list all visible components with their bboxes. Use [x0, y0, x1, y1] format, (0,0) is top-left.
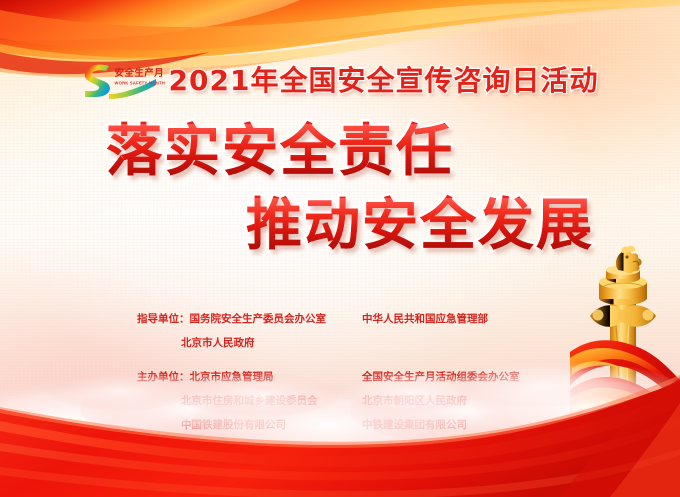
hosts-group: 主办单位：北京市应急管理局 北京市住房和城乡建设委员会 中国铁建股份有限公司 全…: [137, 371, 567, 443]
header-row: 安全生产月 WORK SAFETY MONTH 2021年全国安全宣传咨询日活动: [0, 57, 680, 105]
hosts-left-2: 中国铁建股份有限公司: [137, 419, 362, 432]
guidance-left-col: 指导单位：国务院安全生产委员会办公室 北京市人民政府: [137, 313, 362, 361]
logo-name-en: WORK SAFETY MONTH: [115, 81, 166, 86]
logo-name-cn: 安全生产月: [115, 69, 165, 79]
hosts-row: 主办单位：北京市应急管理局 北京市住房和城乡建设委员会 中国铁建股份有限公司 全…: [137, 371, 567, 443]
guidance-right-col: 中华人民共和国应急管理部: [362, 313, 567, 361]
slogan-line-1: 落实安全责任: [106, 124, 454, 180]
hosts-right-2: 中铁建设集团有限公司: [362, 419, 567, 432]
hosts-right-1: 北京市朝阳区人民政府: [362, 395, 567, 408]
guidance-left-1: 北京市人民政府: [137, 337, 362, 350]
hosts-left-0: 北京市应急管理局: [190, 371, 274, 383]
hosts-label: 主办单位：: [137, 371, 190, 383]
hosts-left-1: 北京市住房和城乡建设委员会: [137, 395, 362, 408]
guidance-label: 指导单位：: [137, 313, 190, 325]
poster-canvas: 安全生产月 WORK SAFETY MONTH 2021年全国安全宣传咨询日活动…: [0, 0, 680, 497]
hosts-right-col: 全国安全生产月活动组委会办公室 北京市朝阳区人民政府 中铁建设集团有限公司: [362, 371, 567, 443]
hosts-left-col: 主办单位：北京市应急管理局 北京市住房和城乡建设委员会 中国铁建股份有限公司: [137, 371, 362, 443]
guidance-right-0: 中华人民共和国应急管理部: [362, 313, 567, 326]
hosts-right-0: 全国安全生产月活动组委会办公室: [362, 371, 567, 384]
guidance-row-1: 指导单位：国务院安全生产委员会办公室 北京市人民政府 中华人民共和国应急管理部: [137, 313, 567, 361]
page-headline: 2021年全国安全宣传咨询日活动: [169, 67, 599, 95]
slogan-line-2: 推动安全发展: [246, 198, 594, 254]
huabiao-column-decoration: [570, 240, 680, 470]
work-safety-month-logo: 安全生产月 WORK SAFETY MONTH: [82, 61, 160, 101]
organizations-block: 指导单位：国务院安全生产委员会办公室 北京市人民政府 中华人民共和国应急管理部 …: [137, 313, 567, 453]
hosts-line-1: 主办单位：北京市应急管理局: [137, 371, 362, 384]
guidance-group: 指导单位：国务院安全生产委员会办公室 北京市人民政府 中华人民共和国应急管理部: [137, 313, 567, 361]
main-slogan: 落实安全责任 落实安全责任 推动安全发展 推动安全发展: [0, 122, 680, 267]
guidance-left-0: 国务院安全生产委员会办公室: [190, 313, 327, 325]
guidance-line-1: 指导单位：国务院安全生产委员会办公室: [137, 313, 362, 326]
